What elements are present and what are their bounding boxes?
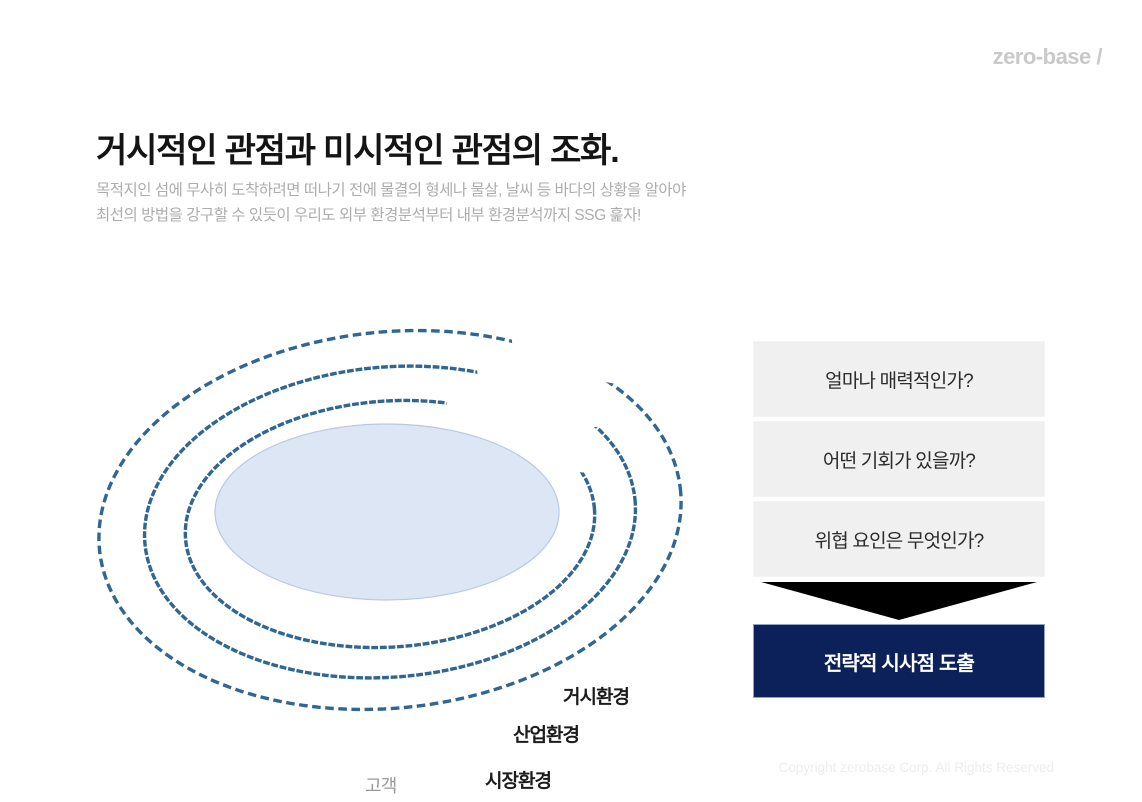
core-label-customer: 고객	[365, 772, 397, 798]
question-box-label: 얼마나 매력적인가?	[825, 366, 973, 393]
question-box[interactable]: 얼마나 매력적인가?	[753, 341, 1045, 417]
question-box[interactable]: 위협 요인은 무엇인가?	[753, 501, 1045, 577]
zerobase-logo: zero-base /	[993, 44, 1102, 70]
question-box-label: 위협 요인은 무엇인가?	[815, 526, 984, 553]
down-arrow	[753, 578, 1045, 620]
page-title: 거시적인 관점과 미시적인 관점의 조화.	[96, 123, 619, 172]
conclusion-label: 전략적 시사점 도출	[824, 647, 974, 676]
down-arrow-svg	[753, 578, 1045, 620]
ring-diagram-svg	[60, 320, 740, 720]
page-subtitle: 목적지인 섬에 무사히 도착하려면 떠나기 전에 물결의 형세나 물살, 날씨 …	[96, 178, 686, 228]
environment-ring-diagram: 거시환경 산업환경 시장환경 고객 경쟁사 자원/기술	[60, 320, 740, 720]
question-box-list: 얼마나 매력적인가? 어떤 기회가 있을까? 위협 요인은 무엇인가?	[753, 341, 1045, 581]
ring-label-industry: 산업환경	[513, 720, 579, 747]
down-arrow-triangle	[761, 582, 1037, 620]
copyright-footer: Copyright zerobase Corp. All Rights Rese…	[779, 760, 1054, 775]
question-box[interactable]: 어떤 기회가 있을까?	[753, 421, 1045, 497]
slide-canvas: zero-base / 거시적인 관점과 미시적인 관점의 조화. 목적지인 섬…	[0, 0, 1142, 802]
ring-label-market: 시장환경	[485, 766, 551, 793]
question-box-label: 어떤 기회가 있을까?	[823, 446, 975, 473]
core-ellipse	[215, 424, 559, 600]
conclusion-box[interactable]: 전략적 시사점 도출	[753, 624, 1045, 698]
ring-label-macro: 거시환경	[563, 682, 629, 709]
